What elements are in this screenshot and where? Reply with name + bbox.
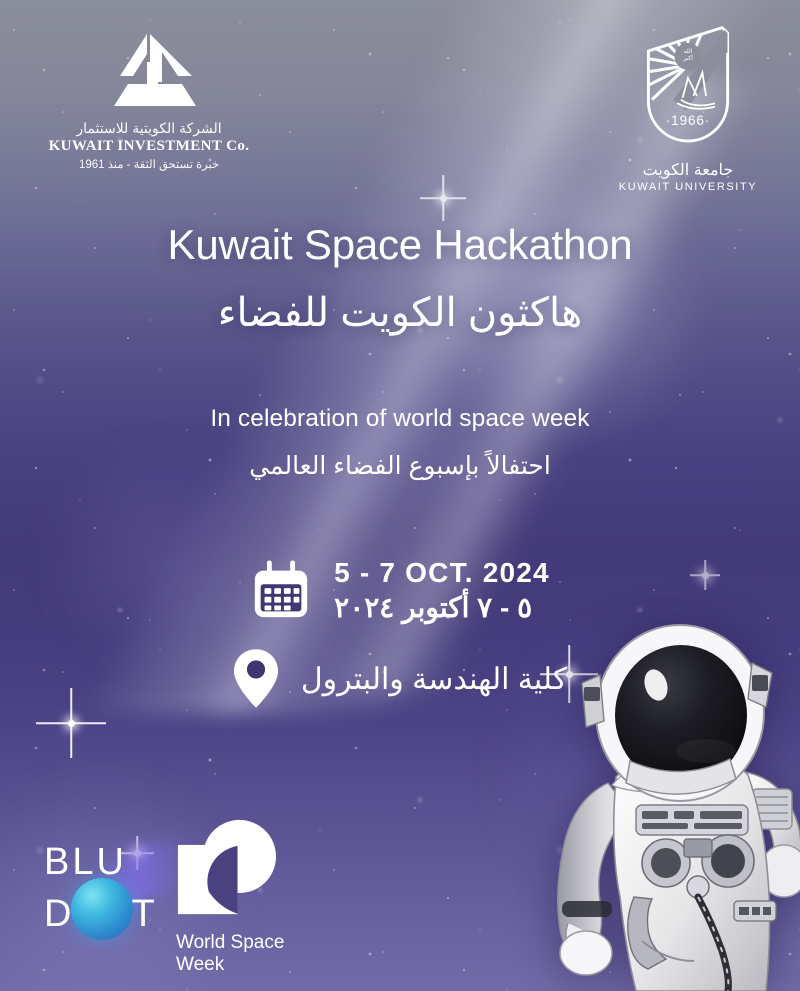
date-text-block: 5 - 7 OCT. 2024 ٥ - ٧ أكتوبر ٢٠٢٤ [334, 556, 550, 624]
svg-text:·1966·: ·1966· [666, 113, 710, 128]
event-title-arabic: هاكثون الكويت للفضاء [0, 290, 800, 336]
partner-logo-world-space-week: World Space Week [176, 818, 326, 976]
event-title-english: Kuwait Space Hackathon [0, 222, 800, 268]
star-sparkle [420, 175, 466, 221]
event-venue-arabic: كلية الهندسة والبترول [301, 662, 567, 697]
poster-canvas: الشركة الكويتية للاستثمار KUWAIT INVESTM… [0, 0, 800, 991]
world-space-week-logo-icon [176, 818, 326, 923]
subtitle-english: In celebration of world space week [0, 405, 800, 433]
kuwait-university-crest-icon: الله أكبر ·1966· [598, 24, 778, 155]
astronaut-figure [538, 601, 800, 991]
wsw-name-line-2: Week [176, 954, 326, 976]
bludot-letter-t: T [131, 893, 157, 935]
sponsor-name-english: KUWAIT INVESTMENT Co. [24, 138, 274, 155]
bludot-line-2: DT [44, 888, 168, 940]
university-name-english: KUWAIT UNIVERSITY [598, 181, 778, 193]
bludot-line-1: BLU [44, 836, 168, 888]
wsw-name-line-1: World Space [176, 932, 326, 954]
sponsor-logo-kuwait-investment: الشركة الكويتية للاستثمار KUWAIT INVESTM… [24, 32, 274, 171]
headline-block: Kuwait Space Hackathon هاكثون الكويت للف… [0, 222, 800, 336]
sponsor-name-arabic: الشركة الكويتية للاستثمار [24, 120, 274, 137]
venue-text-block: كلية الهندسة والبترول [301, 662, 567, 697]
subtitle-block: In celebration of world space week احتفا… [0, 405, 800, 481]
bludot-letter-d: D [44, 893, 74, 935]
partner-logo-bludot: BLU DT [44, 836, 168, 948]
location-pin-icon [233, 648, 279, 710]
university-name-arabic: جامعة الكويت [598, 160, 778, 180]
event-date-english: 5 - 7 OCT. 2024 [334, 556, 550, 589]
subtitle-arabic: احتفالاً بإسبوع الفضاء العالمي [0, 451, 800, 481]
calendar-icon [250, 559, 312, 621]
world-space-week-name: World Space Week [176, 932, 326, 976]
event-date-arabic: ٥ - ٧ أكتوبر ٢٠٢٤ [334, 591, 550, 624]
sponsor-logo-kuwait-university: الله أكبر ·1966· جامعة الكويت KUWAIT [598, 24, 778, 193]
kuwait-investment-logo-icon [100, 32, 198, 116]
sponsor-tagline: خبرة تستحق الثقة - منذ 1961 [24, 157, 274, 171]
